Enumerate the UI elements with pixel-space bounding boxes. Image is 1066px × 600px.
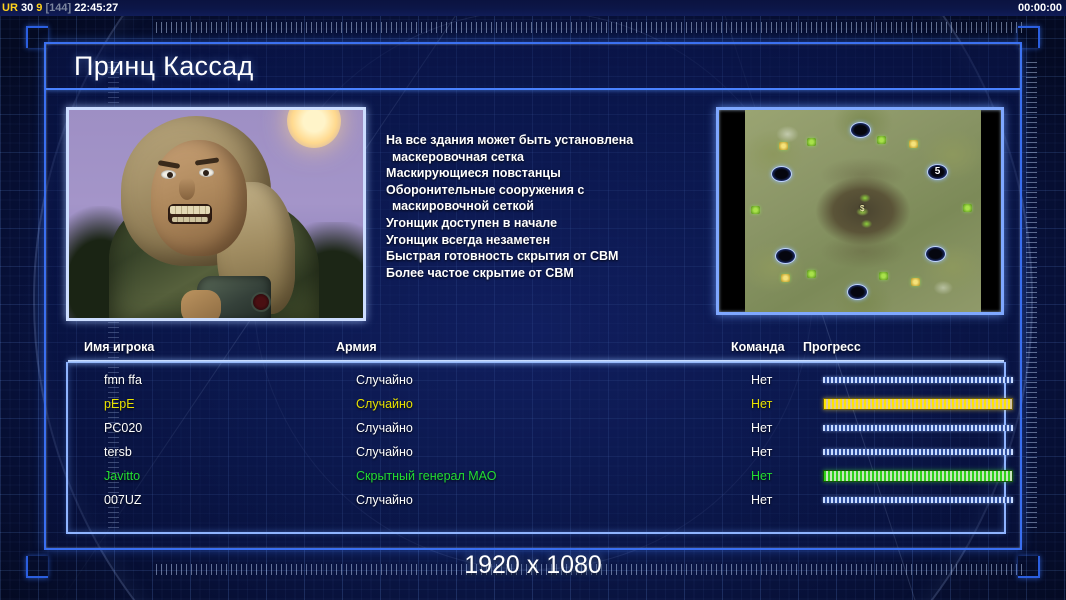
player-army[interactable]: Случайно xyxy=(356,416,413,440)
player-name: 007UZ xyxy=(104,488,142,512)
player-team[interactable]: Нет xyxy=(751,392,772,416)
player-progress-bar xyxy=(823,374,1013,386)
map-preview[interactable]: 5 $ xyxy=(716,107,1004,315)
progress-fill xyxy=(823,470,1013,482)
map-resource-3 xyxy=(877,136,886,144)
portrait-face xyxy=(151,140,247,256)
player-progress-bar xyxy=(823,494,1013,506)
map-spawn-point-4 xyxy=(775,248,796,264)
map-resource-8 xyxy=(781,274,790,282)
player-team[interactable]: Нет xyxy=(751,416,772,440)
progress-fill xyxy=(823,449,1013,455)
progress-fill xyxy=(823,497,1013,503)
player-army[interactable]: Случайно xyxy=(356,392,413,416)
map-spawn-point-2 xyxy=(771,166,792,182)
player-name: pEpE xyxy=(104,392,135,416)
player-table-header: Имя игрока Армия Команда Прогресс xyxy=(68,340,1004,360)
window-title-bar: Принц Кассад xyxy=(46,44,1020,90)
hud-bracketed-value: [144] xyxy=(45,2,71,14)
map-resource-1 xyxy=(807,138,816,146)
player-army[interactable]: Случайно xyxy=(356,488,413,512)
ruler-strip-top xyxy=(156,22,1026,33)
player-progress-bar xyxy=(823,470,1013,482)
player-name: PC020 xyxy=(104,416,142,440)
progress-fill xyxy=(823,398,1013,410)
desc-line-5: Угонщик доступен в начале xyxy=(386,215,686,232)
portrait-teeth-upper xyxy=(170,206,210,214)
table-row[interactable]: pEpE Случайно Нет xyxy=(68,392,1004,416)
table-row[interactable]: 007UZ Случайно Нет xyxy=(68,488,1004,512)
portrait-hand xyxy=(181,290,221,321)
hud-value-2: 9 xyxy=(36,2,42,14)
progress-fill xyxy=(823,425,1013,431)
map-resource-10 xyxy=(911,278,920,286)
desc-line-4: маскировочной сеткой xyxy=(386,198,686,215)
map-spawn-point-5 xyxy=(925,246,946,262)
portrait-nose xyxy=(179,178,195,200)
map-resource-9 xyxy=(879,272,888,280)
map-center-resources: $ xyxy=(849,192,881,230)
hud-status-group: UR 30 9 [144] 22:45:27 xyxy=(2,0,118,16)
table-row[interactable]: PC020 Случайно Нет xyxy=(68,416,1004,440)
desc-line-0: На все здания может быть установлена xyxy=(386,132,686,149)
player-progress-bar xyxy=(823,398,1013,410)
player-name: tersb xyxy=(104,440,132,464)
hud-right-clock: 00:00:00 xyxy=(1018,0,1062,16)
desc-line-6: Угонщик всегда незаметен xyxy=(386,232,686,249)
map-spawn-point-6 xyxy=(847,284,868,300)
map-spawn-point-3: 5 xyxy=(927,164,948,180)
hud-clock: 22:45:27 xyxy=(74,2,118,14)
table-row[interactable]: Javitto Скрытный генерал МАО Нет xyxy=(68,464,1004,488)
general-info-row: На все здания может быть установлена мас… xyxy=(66,107,1004,329)
map-center-label: $ xyxy=(860,204,864,213)
ruler-strip-right xyxy=(1026,62,1037,532)
top-hud-bar: UR 30 9 [144] 22:45:27 00:00:00 xyxy=(0,0,1066,16)
map-resource-6 xyxy=(963,204,972,212)
portrait-pupil-right xyxy=(203,170,209,176)
player-name: fmn ffa xyxy=(104,368,142,392)
desc-line-8: Более частое скрытие от СВМ xyxy=(386,265,686,282)
desc-line-1: маскеровочная сетка xyxy=(386,149,686,166)
player-army[interactable]: Случайно xyxy=(356,440,413,464)
game-lobby-screen: UR 30 9 [144] 22:45:27 00:00:00 Принц Ка… xyxy=(0,0,1066,600)
player-progress-bar xyxy=(823,446,1013,458)
general-ability-description: На все здания может быть установлена мас… xyxy=(386,132,686,281)
lobby-window: Принц Кассад xyxy=(44,42,1022,550)
map-resource-7 xyxy=(807,270,816,278)
portrait-weapon-muzzle xyxy=(251,292,271,312)
general-portrait xyxy=(66,107,366,321)
map-spawn-point-1 xyxy=(850,122,871,138)
column-header-army: Армия xyxy=(336,340,377,354)
progress-fill xyxy=(823,377,1013,383)
hud-value-1: 30 xyxy=(21,2,33,14)
hud-label: UR xyxy=(2,2,18,14)
column-header-progress: Прогресс xyxy=(803,340,861,354)
player-name: Javitto xyxy=(104,464,140,488)
map-resource-2 xyxy=(779,142,788,150)
table-row[interactable]: tersb Случайно Нет xyxy=(68,440,1004,464)
desc-line-2: Маскирующиеся повстанцы xyxy=(386,165,686,182)
player-team[interactable]: Нет xyxy=(751,440,772,464)
page-title: Принц Кассад xyxy=(74,51,254,82)
resolution-label: 1920 x 1080 xyxy=(0,551,1066,580)
map-terrain: 5 $ xyxy=(745,110,981,312)
portrait-mouth xyxy=(168,204,212,224)
player-table-body: fmn ffa Случайно Нет pEpE Случайно Нет P… xyxy=(66,362,1006,534)
desc-line-7: Быстрая готовность скрытия от СВМ xyxy=(386,248,686,265)
player-team[interactable]: Нет xyxy=(751,464,772,488)
player-team[interactable]: Нет xyxy=(751,368,772,392)
player-army[interactable]: Скрытный генерал МАО xyxy=(356,464,496,488)
portrait-pupil-left xyxy=(167,172,173,178)
column-header-team: Команда xyxy=(731,340,785,354)
player-army[interactable]: Случайно xyxy=(356,368,413,392)
desc-line-3: Оборонительные сооружения с xyxy=(386,182,686,199)
map-resource-4 xyxy=(909,140,918,148)
map-resource-5 xyxy=(751,206,760,214)
table-row[interactable]: fmn ffa Случайно Нет xyxy=(68,368,1004,392)
portrait-teeth-lower xyxy=(172,217,208,222)
player-team[interactable]: Нет xyxy=(751,488,772,512)
player-progress-bar xyxy=(823,422,1013,434)
column-header-name: Имя игрока xyxy=(84,340,154,354)
